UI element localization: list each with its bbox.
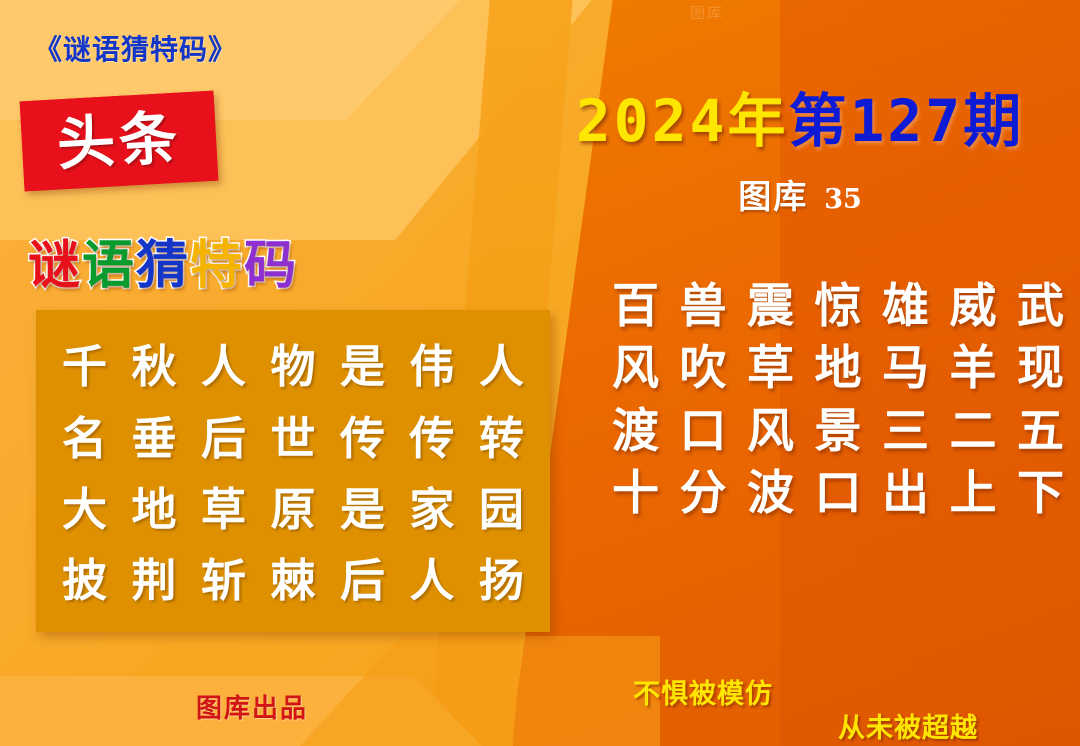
verse-char: 现 — [1017, 340, 1064, 397]
verse-char: 惊 — [815, 278, 862, 335]
poster-canvas: 图库 《谜语猜特码》 头条 谜语猜特码 千秋人物是伟人名垂后世传传转大地草原是家… — [0, 0, 1080, 746]
verse-char: 出 — [882, 465, 929, 522]
riddle-char: 地 — [131, 480, 176, 539]
riddle-char: 园 — [479, 480, 524, 539]
riddle-line: 大地草原是家园 — [36, 480, 550, 539]
riddle-char: 伟 — [409, 337, 454, 396]
verse-char: 下 — [1017, 465, 1064, 522]
verse-char: 五 — [1017, 403, 1064, 460]
verse-char: 雄 — [882, 278, 929, 335]
riddle-char: 传 — [409, 409, 454, 468]
riddle-char: 千 — [62, 337, 107, 396]
issue-number: 第127期 — [788, 87, 1024, 155]
riddle-char: 是 — [340, 480, 385, 539]
riddle-char: 扬 — [479, 551, 524, 610]
riddle-char: 传 — [340, 409, 385, 468]
verse-char: 兽 — [680, 278, 727, 335]
riddle-char: 披 — [62, 551, 107, 610]
riddle-line: 披荆斩棘后人扬 — [36, 551, 550, 610]
issue-year: 2024年 — [576, 87, 789, 155]
verse-char: 羊 — [950, 340, 997, 397]
headline-stamp-inner: 头条 — [23, 94, 215, 188]
verse-char: 风 — [747, 403, 794, 460]
headline-stamp-label: 头条 — [55, 109, 182, 174]
riddle-char: 草 — [201, 480, 246, 539]
rainbow-heading-char: 码 — [244, 240, 298, 292]
riddle-char: 转 — [479, 409, 524, 468]
verse-block: 百兽震惊雄威武风吹草地马羊现渡口风景三二五十分波口出上下 — [612, 278, 1064, 527]
verse-char: 吹 — [680, 340, 727, 397]
verse-line: 风吹草地马羊现 — [612, 340, 1064, 397]
verse-char: 风 — [612, 340, 659, 397]
rainbow-heading-char: 特 — [190, 240, 244, 292]
riddle-line: 千秋人物是伟人 — [36, 337, 550, 396]
verse-char: 草 — [747, 340, 794, 397]
verse-char: 上 — [950, 465, 997, 522]
verse-char: 地 — [815, 340, 862, 397]
rainbow-heading-char: 猜 — [136, 240, 190, 292]
verse-char: 武 — [1017, 278, 1064, 335]
verse-char: 三 — [882, 403, 929, 460]
riddle-char: 荆 — [131, 551, 176, 610]
riddle-char: 棘 — [270, 551, 315, 610]
verse-char: 口 — [815, 465, 862, 522]
issue-heading: 2024年第127期 — [540, 74, 1060, 158]
riddle-char: 后 — [340, 551, 385, 610]
riddle-char: 世 — [270, 409, 315, 468]
gallery-label: 图库 — [738, 177, 808, 216]
riddle-char: 垂 — [131, 409, 176, 468]
verse-char: 渡 — [612, 403, 659, 460]
riddle-char: 原 — [270, 480, 315, 539]
gallery-number: 35 — [824, 184, 862, 215]
riddle-char: 后 — [201, 409, 246, 468]
rainbow-heading-char: 语 — [82, 240, 136, 292]
gallery-heading: 图库35 — [540, 170, 1060, 218]
riddle-box: 千秋人物是伟人名垂后世传传转大地草原是家园披荆斩棘后人扬 — [36, 310, 550, 632]
verse-char: 震 — [747, 278, 794, 335]
verse-char: 口 — [680, 403, 727, 460]
verse-char: 景 — [815, 403, 862, 460]
riddle-char: 名 — [62, 409, 107, 468]
slogan-secondary: 从未被超越 — [838, 706, 978, 745]
riddle-char: 秋 — [131, 337, 176, 396]
credit-label: 图库出品 — [196, 688, 308, 725]
verse-line: 渡口风景三二五 — [612, 403, 1064, 460]
riddle-line: 名垂后世传传转 — [36, 409, 550, 468]
riddle-char: 是 — [340, 337, 385, 396]
headline-stamp: 头条 — [20, 91, 219, 192]
rainbow-heading-char: 谜 — [28, 240, 82, 292]
rainbow-heading: 谜语猜特码 — [28, 240, 298, 292]
verse-char: 马 — [882, 340, 929, 397]
watermark-text: 图库 — [690, 2, 724, 23]
slogan-primary: 不惧被模仿 — [633, 672, 773, 711]
riddle-char: 大 — [62, 480, 107, 539]
verse-char: 十 — [612, 465, 659, 522]
verse-line: 十分波口出上下 — [612, 465, 1064, 522]
riddle-char: 家 — [409, 480, 454, 539]
verse-char: 二 — [950, 403, 997, 460]
verse-char: 威 — [950, 278, 997, 335]
riddle-char: 斩 — [201, 551, 246, 610]
verse-char: 百 — [612, 278, 659, 335]
verse-char: 分 — [680, 465, 727, 522]
riddle-char: 物 — [270, 337, 315, 396]
riddle-char: 人 — [479, 337, 524, 396]
riddle-char: 人 — [409, 551, 454, 610]
verse-char: 波 — [747, 465, 794, 522]
verse-line: 百兽震惊雄威武 — [612, 278, 1064, 335]
page-title: 《谜语猜特码》 — [34, 28, 237, 68]
riddle-char: 人 — [201, 337, 246, 396]
